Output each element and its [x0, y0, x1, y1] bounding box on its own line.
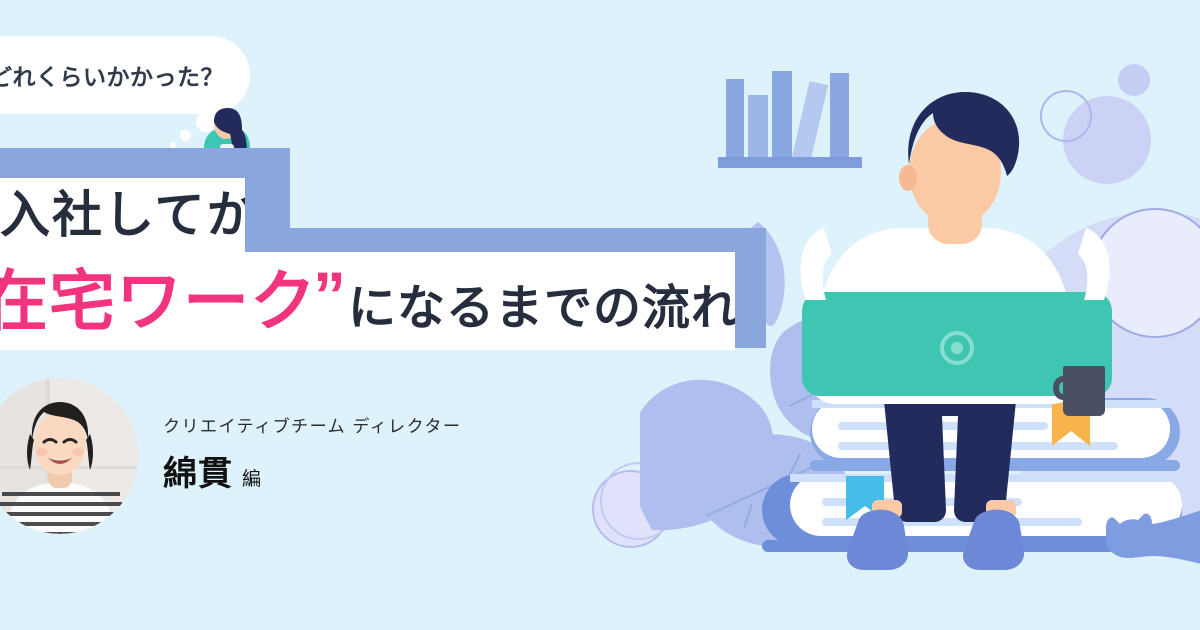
speech-bubble-text: どれくらいかかった？ [0, 58, 224, 92]
byline: クリエイティブチーム ディレクター 綿貫 編 [163, 412, 461, 495]
byline-name-suffix: 編 [242, 464, 261, 491]
title-line1-text: 入社してから [0, 190, 245, 240]
title-quote-mark: ” [313, 262, 346, 328]
title-bar-line2: 在宅ワーク”になるまでの流れ [0, 252, 735, 350]
speech-bubble: どれくらいかかった？ [0, 36, 250, 114]
coffee-mug-icon [1053, 366, 1105, 416]
title-bar-line1: 入社してから [0, 178, 245, 252]
speech-bubble-dot-2 [180, 130, 191, 141]
title-line2-rest-text: になるまでの流れ [348, 285, 735, 333]
title-highlight-text: 在宅ワーク [0, 268, 317, 334]
person-ear [899, 165, 917, 191]
cat-silhouette-icon [1100, 506, 1200, 574]
byline-name: 綿貫 [163, 446, 233, 495]
byline-role: クリエイティブチーム ディレクター [163, 412, 461, 437]
hero-banner: どれくらいかかった？ 入社してから 在宅ワーク”になるまでの流れ [0, 0, 1200, 630]
person-arm-right [1078, 228, 1110, 300]
